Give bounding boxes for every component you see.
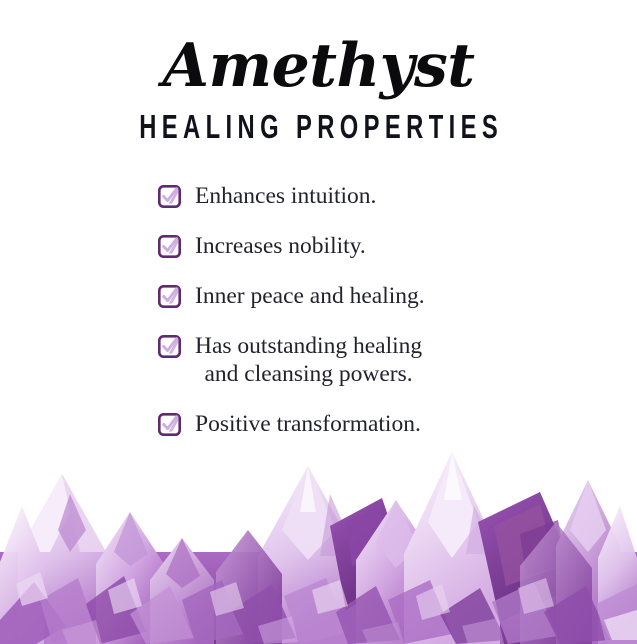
checked-checkbox-icon — [158, 185, 181, 208]
checked-checkbox-icon — [158, 285, 181, 308]
page-title: Amethyst — [0, 36, 637, 96]
page-subtitle: HEALING PROPERTIES — [89, 110, 548, 143]
list-item-label: Inner peace and healing. — [195, 282, 425, 310]
list-item-label: Has outstanding healing and cleansing po… — [195, 332, 422, 388]
list-item-label: Enhances intuition. — [195, 182, 376, 210]
list-item: Inner peace and healing. — [158, 282, 637, 310]
checked-checkbox-icon — [158, 335, 181, 358]
healing-properties-list: Enhances intuition. Increases nobility. — [0, 182, 637, 438]
list-item-label: Positive transformation. — [195, 410, 421, 438]
list-item: Enhances intuition. — [158, 182, 637, 210]
checked-checkbox-icon — [158, 413, 181, 436]
list-item-label: Increases nobility. — [195, 232, 366, 260]
poster-canvas: Amethyst HEALING PROPERTIES Enhances int… — [0, 0, 637, 644]
amethyst-crystal-cluster-image — [0, 434, 637, 644]
list-item: Has outstanding healing and cleansing po… — [158, 332, 637, 388]
list-item: Positive transformation. — [158, 410, 637, 438]
checked-checkbox-icon — [158, 235, 181, 258]
list-item: Increases nobility. — [158, 232, 637, 260]
poster-header: Amethyst HEALING PROPERTIES — [0, 36, 637, 143]
